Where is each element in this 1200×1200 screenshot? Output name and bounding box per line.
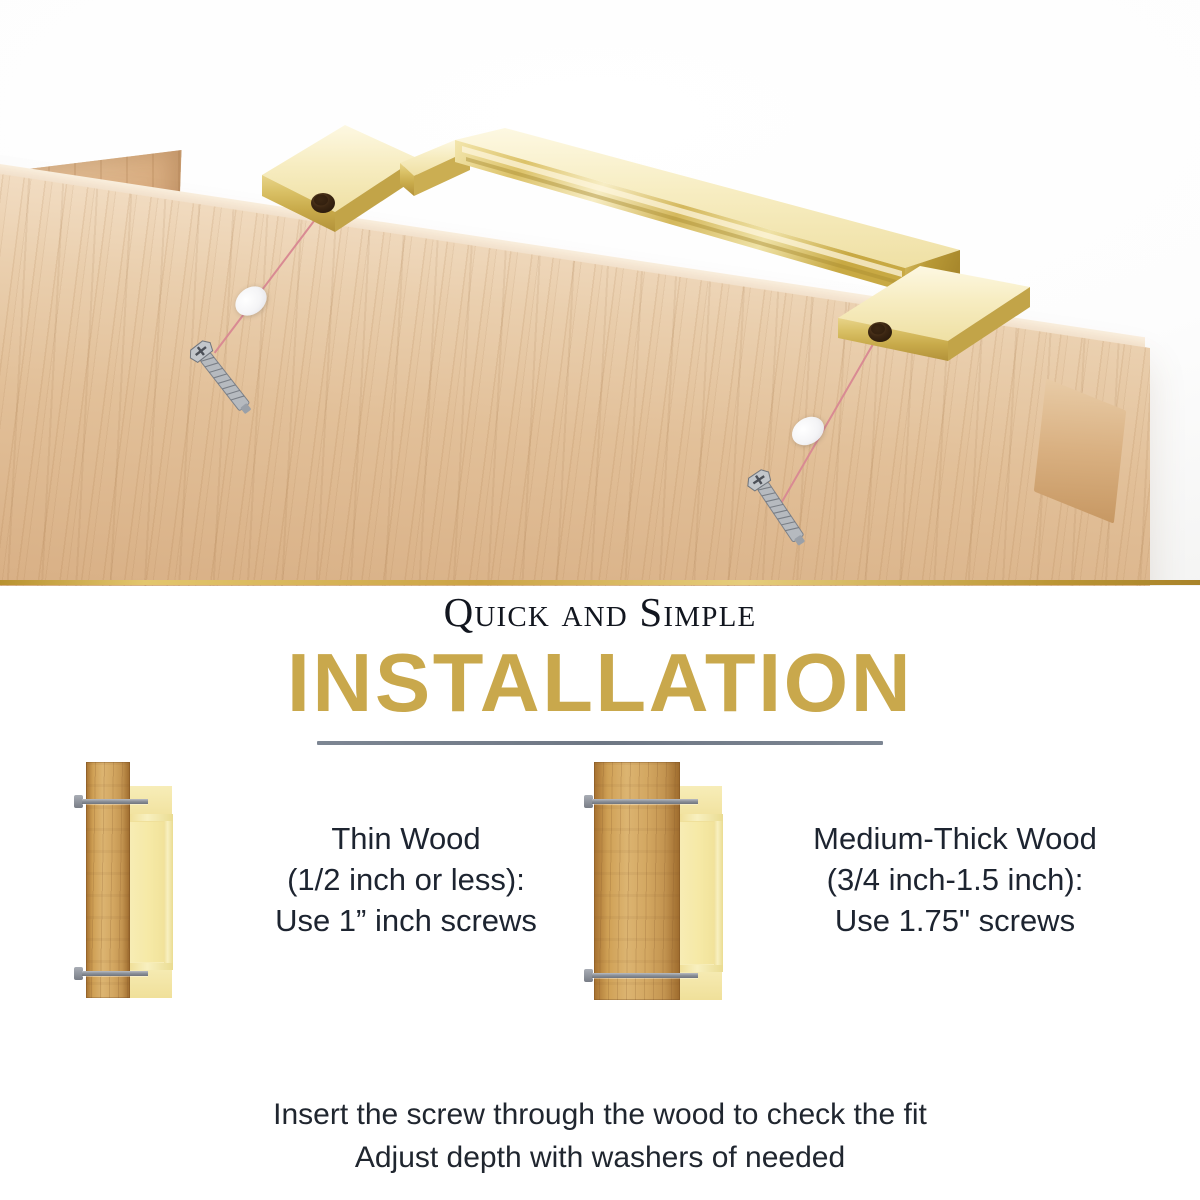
wood-plank-thin bbox=[86, 762, 130, 998]
title-underline bbox=[317, 741, 883, 745]
caption-thin-wood: Thin Wood (1/2 inch or less): Use 1” inc… bbox=[216, 818, 596, 942]
screw-shaft-top-thin bbox=[82, 799, 148, 804]
handle-grip-arm-top-thick bbox=[680, 814, 723, 821]
handle-grip-arm-bottom-thin bbox=[130, 963, 173, 970]
caption-thin-line-3: Use 1” inch screws bbox=[216, 900, 596, 941]
footer-line-1: Insert the screw through the wood to che… bbox=[0, 1094, 1200, 1137]
footer-instructions: Insert the screw through the wood to che… bbox=[0, 1094, 1200, 1179]
figure-medium-thick-wood bbox=[580, 762, 760, 1030]
footer-line-2: Adjust depth with washers of needed bbox=[0, 1137, 1200, 1180]
screw-shaft-top-thick bbox=[592, 799, 698, 804]
caption-thick-line-1: Medium-Thick Wood bbox=[740, 818, 1170, 859]
handle-grip-thick bbox=[714, 814, 723, 972]
caption-thick-line-3: Use 1.75" screws bbox=[740, 900, 1170, 941]
handle-grip-thin bbox=[164, 814, 173, 970]
hero-photo bbox=[0, 0, 1200, 586]
caption-thin-line-2: (1/2 inch or less): bbox=[216, 859, 596, 900]
title-block: Quick and Simple INSTALLATION bbox=[0, 592, 1200, 745]
diagram-row: Thin Wood (1/2 inch or less): Use 1” inc… bbox=[0, 762, 1200, 1030]
diagram-thin-wood: Thin Wood (1/2 inch or less): Use 1” inc… bbox=[60, 762, 580, 1030]
infographic-root: Quick and Simple INSTALLATION bbox=[0, 0, 1200, 1200]
screw-shaft-bottom-thick bbox=[592, 973, 698, 978]
figure-thin-wood bbox=[60, 762, 240, 1030]
gold-divider-line bbox=[0, 580, 1200, 585]
wood-plank-thick bbox=[594, 762, 680, 1000]
screw-left bbox=[160, 326, 280, 431]
title-kicker: Quick and Simple bbox=[0, 592, 1200, 633]
screw-shaft-bottom-thin bbox=[82, 971, 148, 976]
handle-grip-arm-top-thin bbox=[130, 814, 173, 821]
handle-grip-arm-bottom-thick bbox=[680, 965, 723, 972]
screw-right bbox=[716, 456, 836, 561]
title-headline: INSTALLATION bbox=[0, 641, 1200, 724]
caption-medium-thick-wood: Medium-Thick Wood (3/4 inch-1.5 inch): U… bbox=[740, 818, 1170, 942]
caption-thin-line-1: Thin Wood bbox=[216, 818, 596, 859]
caption-thick-line-2: (3/4 inch-1.5 inch): bbox=[740, 859, 1170, 900]
diagram-medium-thick-wood: Medium-Thick Wood (3/4 inch-1.5 inch): U… bbox=[580, 762, 1140, 1030]
